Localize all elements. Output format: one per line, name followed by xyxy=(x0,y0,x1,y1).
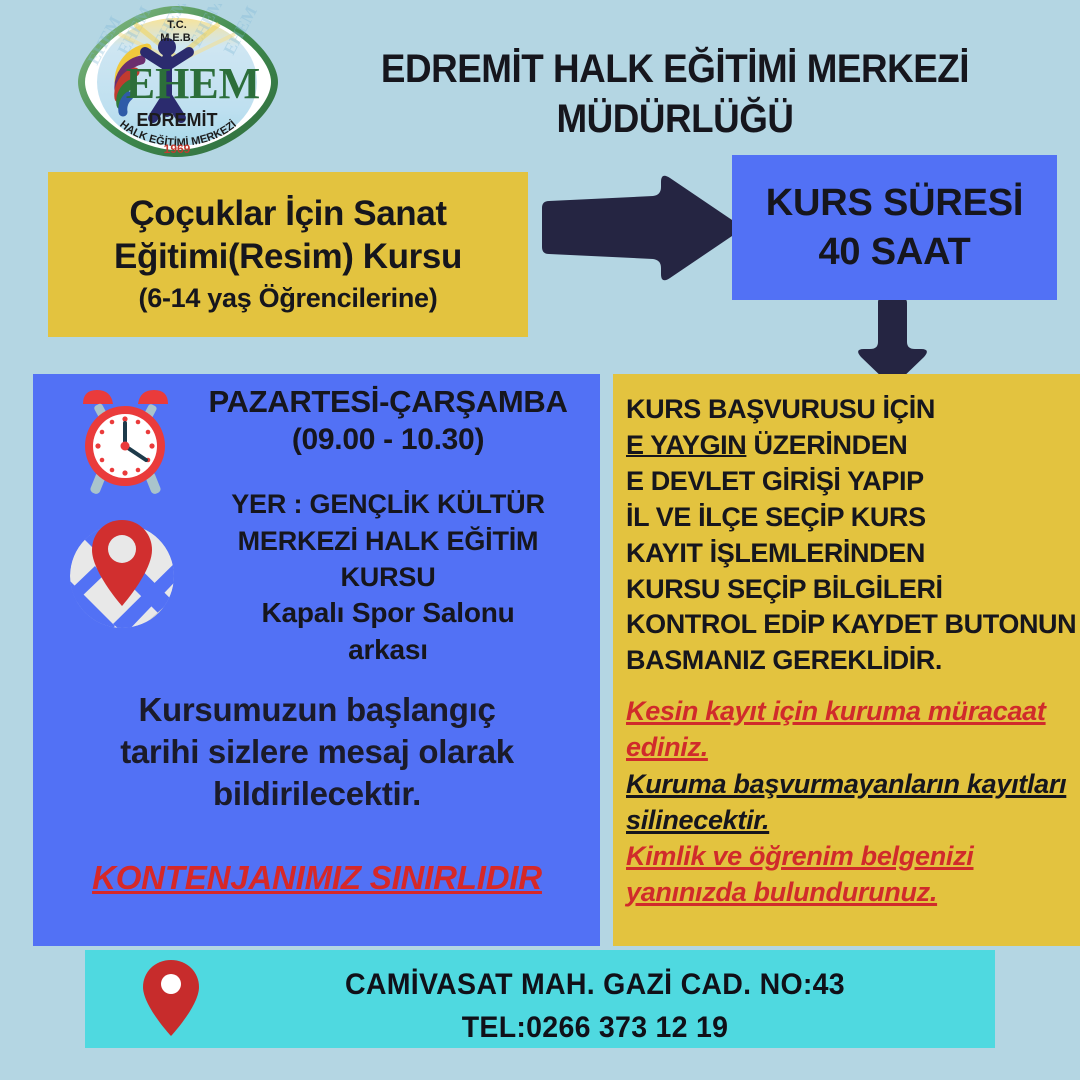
app-line-8: BASMANIZ GEREKLİDİR. xyxy=(626,643,1080,679)
schedule-place: YER : GENÇLİK KÜLTÜR MERKEZİ HALK EĞİTİM… xyxy=(188,486,588,595)
contact-footer: CAMİVASAT MAH. GAZİ CAD. NO:43 TEL:0266 … xyxy=(85,950,995,1048)
course-age-range: (6-14 yaş Öğrencilerine) xyxy=(139,283,438,314)
page-title-line1: EDREMİT HALK EĞİTİMİ MERKEZİ xyxy=(381,47,969,91)
logo-meb: M.E.B. xyxy=(160,32,194,44)
logo-year: 1969 xyxy=(164,142,191,156)
course-title: Çoçuklar İçin Sanat Eğitimi(Resim) Kursu xyxy=(114,193,462,278)
app-line-7: KONTROL EDİP KAYDET BUTONUN xyxy=(626,607,1080,643)
ehem-logo: EHEM EHEM EHEM EHEM EHEM EHEM xyxy=(75,4,280,159)
place-line-5: arkası xyxy=(188,632,588,668)
app-line-5: KAYIT İŞLEMLERİNDEN xyxy=(626,536,1080,572)
course-duration-box: KURS SÜRESİ 40 SAAT xyxy=(732,155,1057,300)
duration-label: KURS SÜRESİ xyxy=(766,179,1024,228)
logo-town: EDREMİT xyxy=(137,110,218,130)
schedule-place-detail: Kapalı Spor Salonu arkası xyxy=(188,595,588,668)
app-line-6: KURSU SEÇİP BİLGİLERİ xyxy=(626,572,1080,608)
place-line-4: Kapalı Spor Salonu xyxy=(188,595,588,631)
footer-address: CAMİVASAT MAH. GAZİ CAD. NO:43 xyxy=(244,964,947,1007)
app-line-2-rest: ÜZERİNDEN xyxy=(746,430,907,460)
place-line-2: MERKEZİ HALK EĞİTİM xyxy=(188,523,588,559)
notice-line-2: tarihi sizlere mesaj olarak xyxy=(51,731,583,773)
logo-tc: T.C. xyxy=(167,19,187,31)
notice-line-3: bildirilecektir. xyxy=(51,773,583,815)
e-yaygin-link[interactable]: E YAYGIN xyxy=(626,430,746,460)
footer-contact-text: CAMİVASAT MAH. GAZİ CAD. NO:43 TEL:0266 … xyxy=(244,964,947,1049)
duration-value: 40 SAAT xyxy=(818,228,970,277)
course-name-box: Çoçuklar İçin Sanat Eğitimi(Resim) Kursu… xyxy=(48,172,528,337)
arrow-down-icon xyxy=(845,300,940,385)
notice-line-1: Kursumuzun başlangıç xyxy=(51,689,583,731)
course-title-line2: Eğitimi(Resim) Kursu xyxy=(114,236,462,279)
place-line-3: KURSU xyxy=(188,559,588,595)
page-title: EDREMİT HALK EĞİTİMİ MERKEZİ MÜDÜRLÜĞÜ xyxy=(358,44,993,144)
registration-warning-red-2: Kimlik ve öğrenim belgenizi yanınızda bu… xyxy=(626,839,1080,910)
location-pin-icon xyxy=(140,958,202,1038)
registration-warning-black: Kuruma başvurmayanların kayıtları siline… xyxy=(626,767,1080,838)
schedule-panel: PAZARTESİ-ÇARŞAMBA (09.00 - 10.30) YER :… xyxy=(33,374,600,946)
application-steps: KURS BAŞVURUSU İÇİN E YAYGIN ÜZERİNDEN E… xyxy=(626,392,1080,679)
place-line-1: YER : GENÇLİK KÜLTÜR xyxy=(188,486,588,522)
schedule-days: PAZARTESİ-ÇARŞAMBA xyxy=(188,384,588,421)
application-instructions-panel: KURS BAŞVURUSU İÇİN E YAYGIN ÜZERİNDEN E… xyxy=(613,374,1080,946)
poster-root: EHEM EHEM EHEM EHEM EHEM EHEM xyxy=(0,0,1080,1080)
app-line-1: KURS BAŞVURUSU İÇİN xyxy=(626,392,1080,428)
start-date-notice: Kursumuzun başlangıç tarihi sizlere mesa… xyxy=(51,689,583,816)
footer-phone[interactable]: TEL:0266 373 12 19 xyxy=(244,1007,947,1050)
quota-warning: KONTENJANIMIZ SINIRLIDIR xyxy=(51,859,583,897)
page-title-line2: MÜDÜRLÜĞÜ xyxy=(358,94,993,144)
app-line-4: İL VE İLÇE SEÇİP KURS xyxy=(626,500,1080,536)
app-line-2: E YAYGIN ÜZERİNDEN xyxy=(626,428,1080,464)
logo-acronym: EHEM xyxy=(126,59,260,108)
schedule-text: PAZARTESİ-ÇARŞAMBA (09.00 - 10.30) YER :… xyxy=(188,384,588,668)
registration-warning-red-1: Kesin kayıt için kuruma müracaat ediniz. xyxy=(626,694,1080,765)
course-title-line1: Çoçuklar İçin Sanat xyxy=(114,193,462,236)
schedule-hours: (09.00 - 10.30) xyxy=(188,421,588,459)
arrow-right-icon xyxy=(530,170,745,285)
app-line-3: E DEVLET GİRİŞİ YAPIP xyxy=(626,464,1080,500)
alarm-clock-icon xyxy=(73,386,178,494)
map-location-icon xyxy=(55,506,190,638)
